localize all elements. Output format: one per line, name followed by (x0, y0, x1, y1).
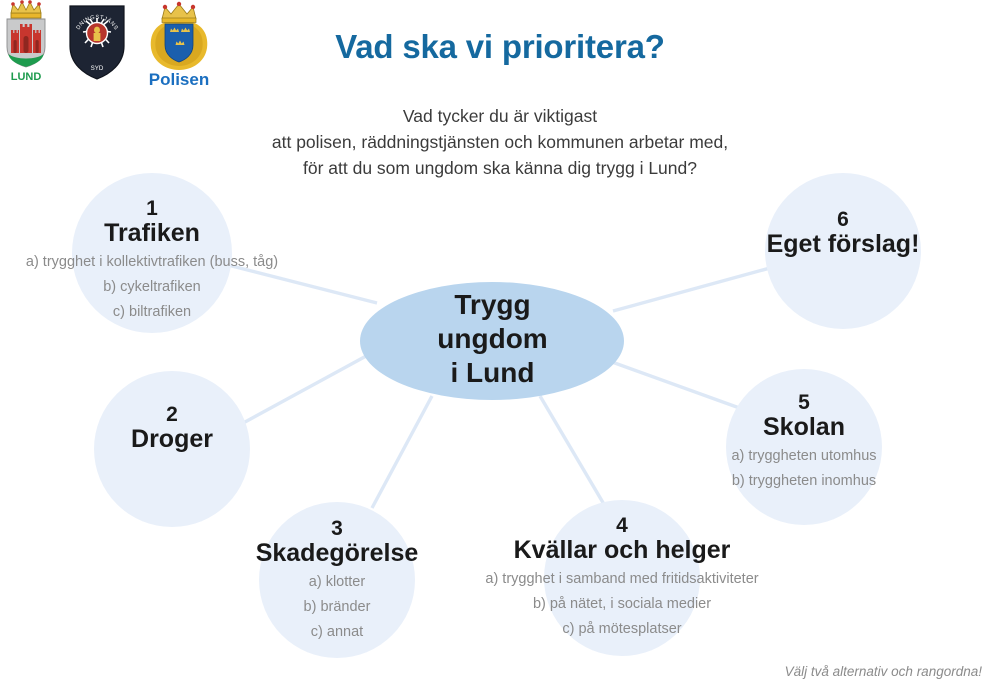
node-4-sub-b: b) på nätet, i sociala medier (422, 592, 822, 617)
node-4-number: 4 (422, 515, 822, 536)
node-5-sub-b: b) tryggheten inomhus (654, 469, 954, 494)
center-node-label: Trygg ungdom i Lund (360, 288, 625, 390)
node-4-sub-c: c) på mötesplatser (422, 617, 822, 642)
node-2-droger[interactable]: 2 Droger (22, 404, 322, 454)
node-4-kvallar-och-helger[interactable]: 4 Kvällar och helger a) trygghet i samba… (422, 515, 822, 642)
node-2-title: Droger (22, 425, 322, 454)
footnote: Välj två alternativ och rangordna! (785, 664, 982, 679)
node-4-subs: a) trygghet i samband med fritidsaktivit… (422, 567, 822, 642)
center-line-3: i Lund (360, 356, 625, 390)
node-6-number: 6 (693, 209, 993, 230)
node-5-number: 5 (654, 392, 954, 413)
node-1-subs: a) trygghet i kollektivtrafiken (buss, t… (0, 250, 352, 325)
node-1-trafiken[interactable]: 1 Trafiken a) trygghet i kollektivtrafik… (0, 198, 352, 325)
connector-to-node-3 (372, 396, 432, 508)
node-4-sub-a: a) trygghet i samband med fritidsaktivit… (422, 567, 822, 592)
connector-to-node-4 (540, 396, 605, 506)
node-5-skolan[interactable]: 5 Skolan a) tryggheten utomhus b) tryggh… (654, 392, 954, 494)
poster: LUND RÄDDNINGSTJÄNSTEN SYD (0, 0, 1000, 691)
node-5-sub-a: a) tryggheten utomhus (654, 444, 954, 469)
node-6-title: Eget förslag! (693, 230, 993, 259)
node-5-subs: a) tryggheten utomhus b) tryggheten inom… (654, 444, 954, 494)
node-1-number: 1 (0, 198, 352, 219)
node-6-eget-forslag[interactable]: 6 Eget förslag! (693, 209, 993, 259)
node-1-sub-b: b) cykeltrafiken (0, 275, 352, 300)
node-5-title: Skolan (654, 413, 954, 442)
node-1-sub-c: c) biltrafiken (0, 300, 352, 325)
connector-to-node-6 (613, 268, 770, 311)
node-2-number: 2 (22, 404, 322, 425)
center-line-1: Trygg (360, 288, 625, 322)
node-1-title: Trafiken (0, 219, 352, 248)
center-line-2: ungdom (360, 322, 625, 356)
node-4-title: Kvällar och helger (422, 536, 822, 565)
node-1-sub-a: a) trygghet i kollektivtrafiken (buss, t… (0, 250, 352, 275)
